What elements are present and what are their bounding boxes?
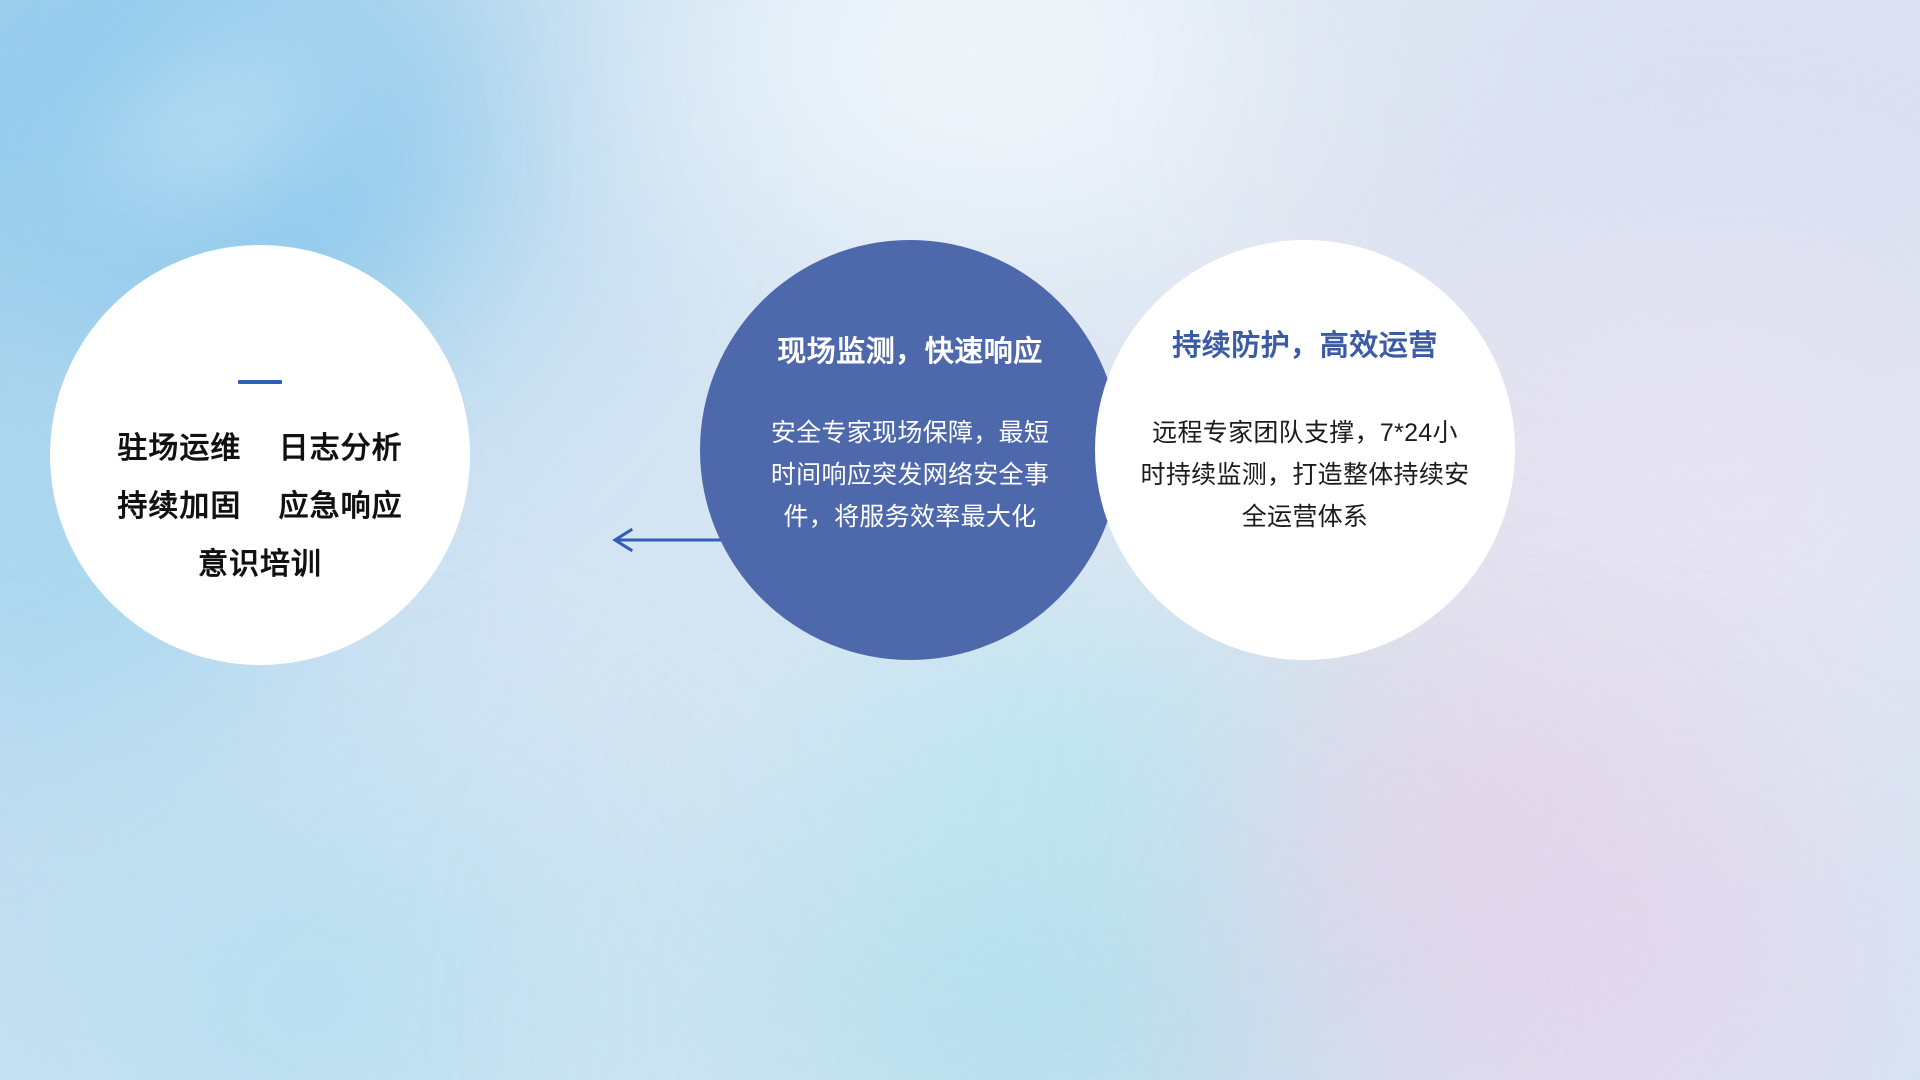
capability-line-3: 意识培训 [117,536,402,594]
right-circle-body: 远程专家团队支撑，7*24小时持续监测，打造整体持续安全运营体系 [1140,412,1470,538]
slide-canvas: 驻场运维 日志分析 持续加固 应急响应 意识培训 现场监测，快速响应 安全专家现… [0,0,1920,1080]
middle-circle-body: 安全专家现场保障，最短时间响应突发网络安全事件，将服务效率最大化 [760,412,1060,538]
divider-dash [238,380,282,384]
capability-list: 驻场运维 日志分析 持续加固 应急响应 意识培训 [117,420,402,594]
middle-onsite-circle: 现场监测，快速响应 安全专家现场保障，最短时间响应突发网络安全事件，将服务效率最… [700,240,1120,660]
capability-line-1: 驻场运维 日志分析 [117,420,402,478]
capability-line-2: 持续加固 应急响应 [117,478,402,536]
left-capability-circle: 驻场运维 日志分析 持续加固 应急响应 意识培训 [50,245,470,665]
middle-circle-title: 现场监测，快速响应 [777,328,1043,370]
right-operations-circle: 持续防护，高效运营 远程专家团队支撑，7*24小时持续监测，打造整体持续安全运营… [1095,240,1515,660]
right-circle-title: 持续防护，高效运营 [1172,322,1438,364]
